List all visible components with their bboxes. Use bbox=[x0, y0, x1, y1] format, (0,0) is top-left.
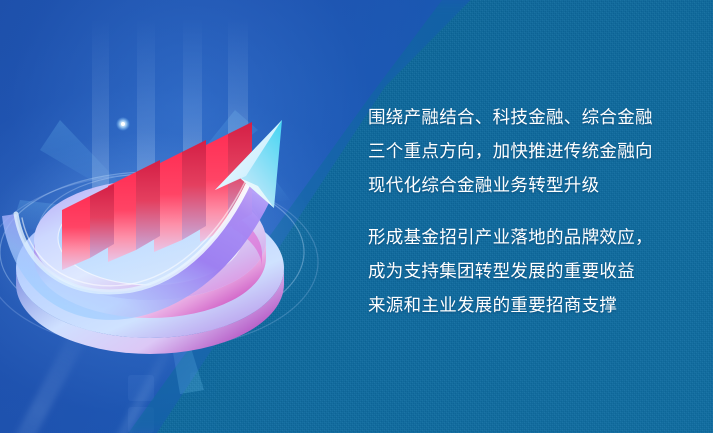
growth-chart-illustration bbox=[0, 0, 360, 433]
paragraph-2-line-3: 来源和主业发展的重要招商支撑 bbox=[368, 288, 688, 322]
paragraph-1: 围绕产融结合、科技金融、综合金融 三个重点方向，加快推进传统金融向 现代化综合金… bbox=[368, 100, 688, 202]
paragraph-1-line-3: 现代化综合金融业务转型升级 bbox=[368, 168, 688, 202]
copy-block: 围绕产融结合、科技金融、综合金融 三个重点方向，加快推进传统金融向 现代化综合金… bbox=[368, 100, 688, 322]
paragraph-2-line-1: 形成基金招引产业落地的品牌效应， bbox=[368, 220, 688, 254]
paragraph-1-line-2: 三个重点方向，加快推进传统金融向 bbox=[368, 134, 688, 168]
paragraph-2-line-2: 成为支持集团转型发展的重要收益 bbox=[368, 254, 688, 288]
paragraph-1-line-1: 围绕产融结合、科技金融、综合金融 bbox=[368, 100, 688, 134]
promo-banner: 围绕产融结合、科技金融、综合金融 三个重点方向，加快推进传统金融向 现代化综合金… bbox=[0, 0, 713, 433]
glow-dot-core-icon bbox=[121, 122, 125, 126]
paragraph-2: 形成基金招引产业落地的品牌效应， 成为支持集团转型发展的重要收益 来源和主业发展… bbox=[368, 220, 688, 322]
